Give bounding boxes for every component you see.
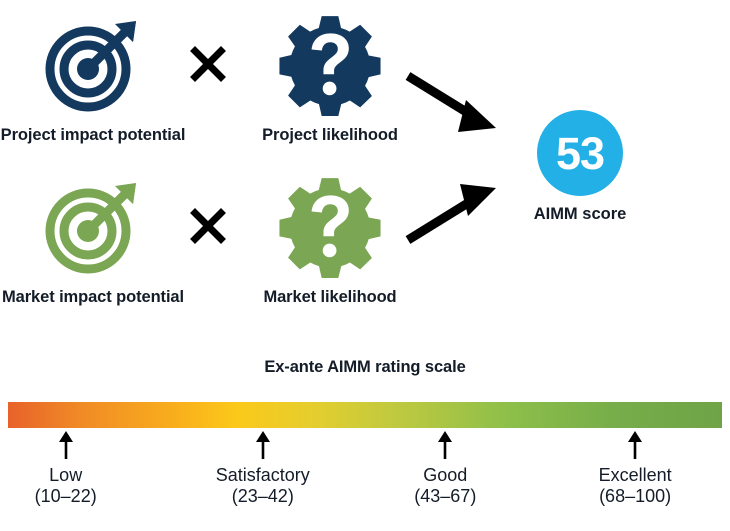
market-likelihood-label: Market likelihood xyxy=(263,288,396,308)
score-caption: AIMM score xyxy=(534,205,627,224)
formula-area: Project impact potential Project likelih… xyxy=(0,0,510,350)
arrow-up-icon xyxy=(57,430,75,460)
arrow-up-icon xyxy=(626,430,644,460)
gear-question-icon xyxy=(278,170,382,282)
market-likelihood-cell: Market likelihood xyxy=(230,170,430,308)
rating-tick-satisfactory: Satisfactory (23–42) xyxy=(178,430,348,506)
rating-tick-label: Good xyxy=(423,465,467,486)
arrow-up-icon xyxy=(254,430,272,460)
market-impact-label: Market impact potential xyxy=(2,288,184,308)
market-impact-cell: Market impact potential xyxy=(0,170,186,308)
rating-scale-title: Ex-ante AIMM rating scale xyxy=(0,358,730,377)
rating-tick-group: Low (10–22) Satisfactory (23–42) Good (4… xyxy=(0,430,730,530)
rating-tick-range: (23–42) xyxy=(232,486,294,507)
rating-scale-section: Ex-ante AIMM rating scale Low (10–22) Sa… xyxy=(0,358,730,531)
project-likelihood-label: Project likelihood xyxy=(262,126,398,146)
arrow-right-icon xyxy=(404,70,514,140)
rating-tick-range: (10–22) xyxy=(35,486,97,507)
formula-row-project: Project impact potential Project likelih… xyxy=(0,8,430,168)
rating-tick-range: (43–67) xyxy=(414,486,476,507)
aimm-score-infographic: Project impact potential Project likelih… xyxy=(0,0,730,531)
arrow-up-icon xyxy=(436,430,454,460)
rating-tick-label: Low xyxy=(49,465,82,486)
multiply-operator-project xyxy=(186,8,230,120)
rating-tick-label: Satisfactory xyxy=(216,465,310,486)
rating-tick-excellent: Excellent (68–100) xyxy=(550,430,720,506)
project-impact-label: Project impact potential xyxy=(1,126,186,146)
score-value: 53 xyxy=(556,131,604,176)
multiply-operator-market xyxy=(186,170,230,282)
target-arrow-icon xyxy=(41,8,145,120)
score-badge: 53 xyxy=(537,110,623,196)
formula-row-market: Market impact potential Market likelihoo… xyxy=(0,170,430,330)
arrow-right-icon xyxy=(404,176,514,246)
gear-question-icon xyxy=(278,8,382,120)
rating-tick-low: Low (10–22) xyxy=(0,430,151,506)
rating-tick-good: Good (43–67) xyxy=(360,430,530,506)
project-likelihood-cell: Project likelihood xyxy=(230,8,430,146)
rating-gradient-bar xyxy=(8,402,722,428)
project-impact-cell: Project impact potential xyxy=(0,8,186,146)
rating-tick-range: (68–100) xyxy=(599,486,671,507)
rating-tick-label: Excellent xyxy=(599,465,672,486)
aimm-score-block: 53 AIMM score xyxy=(500,110,660,224)
target-arrow-icon xyxy=(41,170,145,282)
